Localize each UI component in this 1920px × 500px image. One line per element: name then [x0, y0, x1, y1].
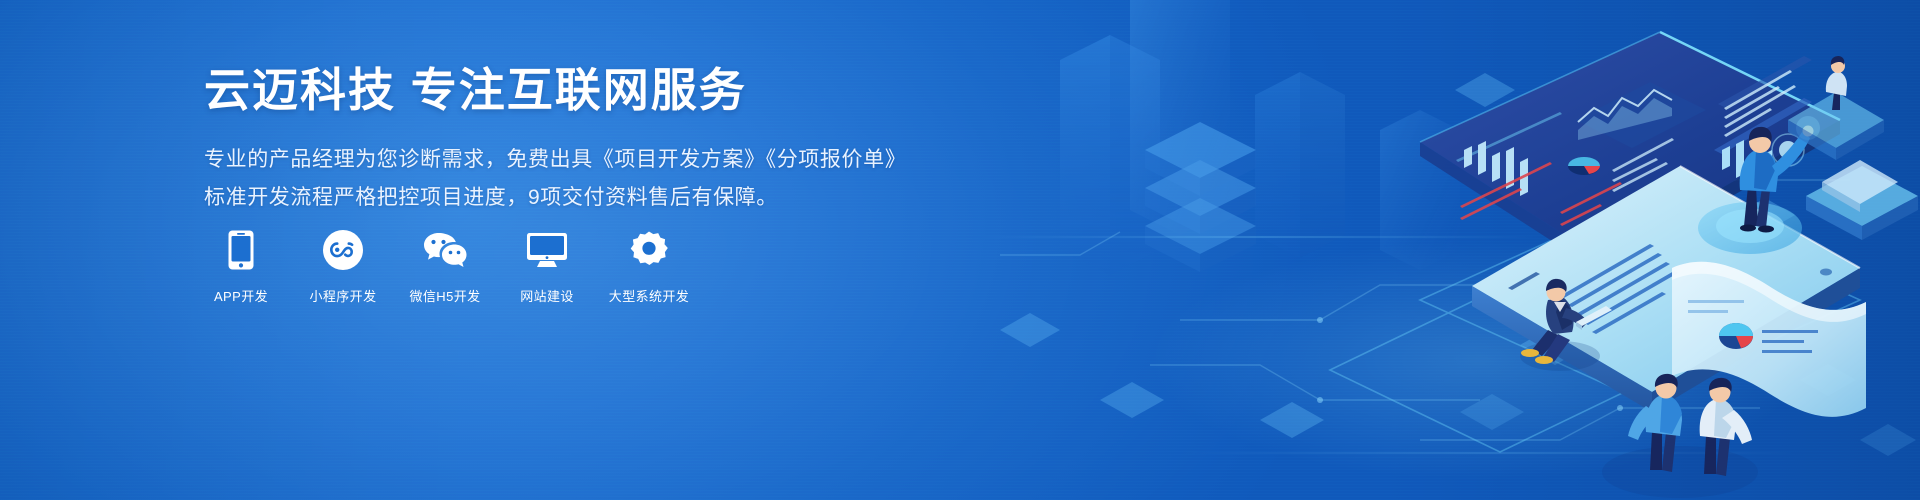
service-label: 微信H5开发: [409, 286, 480, 305]
service-item-wechat-h5[interactable]: 微信H5开发: [408, 228, 482, 305]
service-label: 小程序开发: [309, 286, 376, 305]
banner-content: 云迈科技 专注互联网服务 专业的产品经理为您诊断需求，免费出具《项目开发方案》《…: [204, 62, 1104, 216]
hero-banner: 云迈科技 专注互联网服务 专业的产品经理为您诊断需求，免费出具《项目开发方案》《…: [0, 0, 1920, 500]
subtitle-line-2: 标准开发流程严格把控项目进度，9项交付资料售后有保障。: [204, 180, 1104, 216]
service-item-large-system[interactable]: 大型系统开发: [612, 228, 686, 305]
service-label: 网站建设: [520, 286, 574, 305]
subtitle-line-1: 专业的产品经理为您诊断需求，免费出具《项目开发方案》《分项报价单》: [204, 142, 1104, 178]
wechat-icon: [422, 228, 468, 272]
gear-icon: [629, 228, 669, 272]
service-item-miniprogram[interactable]: 小程序开发: [306, 228, 380, 305]
standing-person: [1698, 116, 1820, 254]
service-list: APP开发 小程序开发: [204, 228, 686, 305]
page-title: 云迈科技 专注互联网服务: [204, 62, 1104, 120]
service-label: APP开发: [214, 286, 268, 305]
side-platforms: [1788, 56, 1918, 240]
monitor-icon: [526, 228, 568, 272]
mobile-phone-icon: [228, 228, 254, 272]
seated-person: [1520, 279, 1612, 371]
two-people-group: [1602, 374, 1758, 498]
dashboard-screen: [1420, 32, 1840, 272]
data-sheet: [1672, 262, 1866, 417]
service-label: 大型系统开发: [609, 286, 689, 305]
phone-text-lines: [1560, 244, 1678, 334]
service-item-app[interactable]: APP开发: [204, 228, 278, 305]
smartphone-platform: [1472, 166, 1860, 412]
service-item-website[interactable]: 网站建设: [510, 228, 584, 305]
mini-program-icon: [323, 228, 363, 272]
